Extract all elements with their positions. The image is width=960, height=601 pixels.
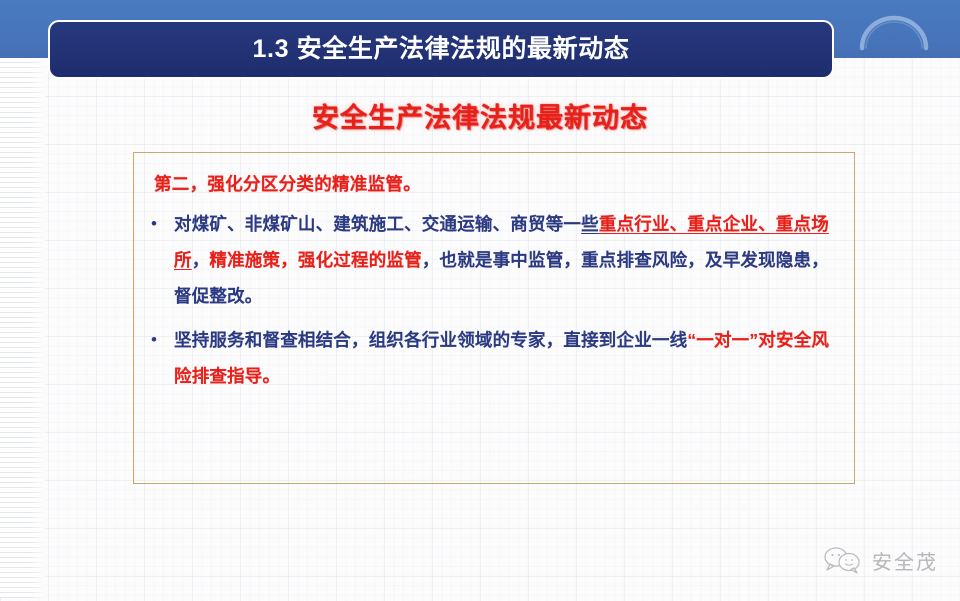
- subtitle-text: 安全生产法律法规最新动态: [312, 96, 648, 135]
- wechat-bubbles-icon: [822, 545, 864, 575]
- subtitle-container: 安全生产法律法规最新动态: [0, 96, 960, 135]
- text-segment: 些: [581, 214, 599, 234]
- bullet-text: 坚持服务和督查相结合，组织各行业领域的专家，直接到企业一线“一对一”对安全风险排…: [174, 322, 836, 394]
- text-segment: ，: [192, 250, 210, 270]
- content-panel: 第二，强化分区分类的精准监管。 • 对煤矿、非煤矿山、建筑施工、交通运输、商贸等…: [133, 152, 855, 484]
- text-segment: 对煤矿、非煤矿山、建筑施工、交通运输、商贸等一: [174, 214, 581, 234]
- left-stripe-fade: [0, 58, 45, 598]
- bullet-text: 对煤矿、非煤矿山、建筑施工、交通运输、商贸等一些重点行业、重点企业、重点场所，精…: [174, 206, 836, 314]
- slide-title-bar: 1.3 安全生产法律法规的最新动态: [48, 20, 834, 79]
- text-segment-highlight: 精准施策，强化过程的监管: [209, 250, 421, 270]
- lead-paragraph: 第二，强化分区分类的精准监管。: [154, 171, 836, 196]
- slide-canvas: 1.3 安全生产法律法规的最新动态 安全生产法律法规最新动态 第二，强化分区分类…: [0, 0, 960, 601]
- watermark: 安全茂: [822, 545, 938, 575]
- list-item: • 坚持服务和督查相结合，组织各行业领域的专家，直接到企业一线“一对一”对安全风…: [146, 322, 836, 394]
- watermark-label: 安全茂: [872, 546, 938, 575]
- bullet-marker: •: [146, 322, 174, 358]
- page-title: 1.3 安全生产法律法规的最新动态: [253, 37, 630, 62]
- bullet-marker: •: [146, 206, 174, 242]
- list-item: • 对煤矿、非煤矿山、建筑施工、交通运输、商贸等一些重点行业、重点企业、重点场所…: [146, 206, 836, 314]
- text-segment: 坚持服务和督查相结合，组织各行业领域的专家，直接到企业一线: [174, 330, 687, 350]
